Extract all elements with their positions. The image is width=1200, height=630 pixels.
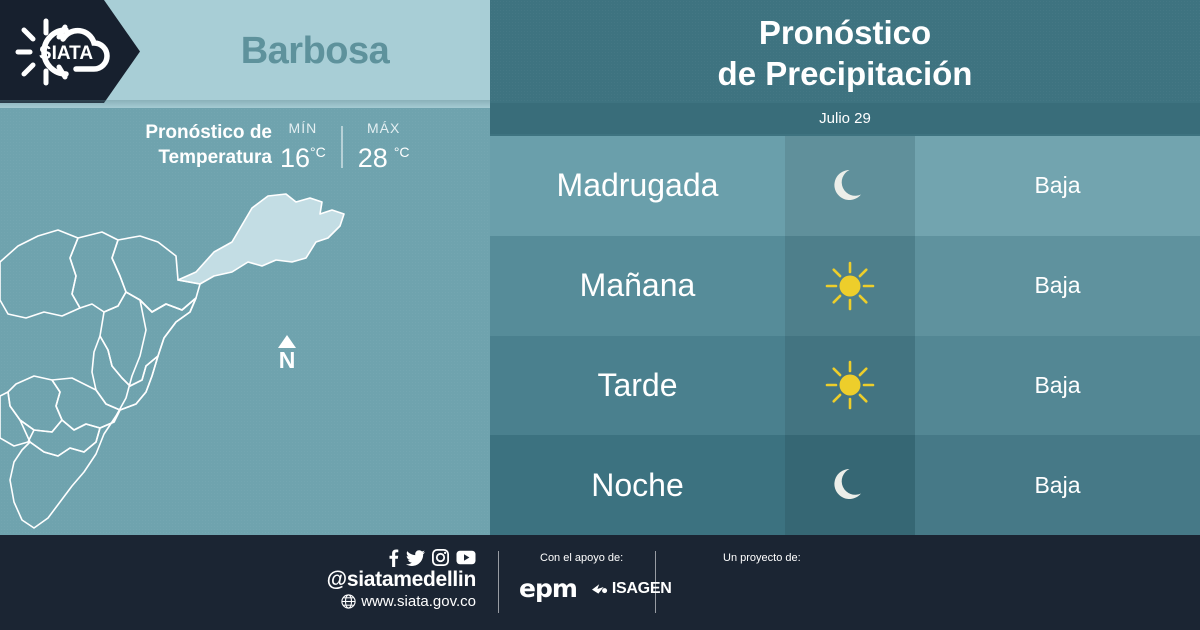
forecast-icon-cell	[785, 136, 915, 236]
map-region-caldas[interactable]	[10, 298, 196, 528]
table-row[interactable]: Noche Baja	[490, 435, 1200, 535]
forecast-table: Madrugada Baja Mañana	[490, 136, 1200, 535]
forecast-level-label: Baja	[1034, 272, 1080, 299]
min-value: 16	[280, 143, 310, 173]
max-value: 28	[358, 143, 388, 173]
forecast-level-label: Baja	[1034, 472, 1080, 499]
table-row[interactable]: Mañana	[490, 236, 1200, 336]
footer-divider-2	[655, 551, 656, 613]
temperature-divider	[341, 126, 343, 168]
social-block: @siatamedellin www.siata.gov.co	[316, 548, 476, 611]
forecast-period-cell: Noche	[490, 435, 785, 535]
forecast-level-cell: Baja	[915, 435, 1200, 535]
weather-infographic: SIATA Barbosa Pronóstico de Temperatura …	[0, 0, 1200, 630]
map-region-envigado[interactable]	[52, 378, 120, 430]
isagen-text: ISAGEN	[612, 580, 672, 598]
precipitation-title-line2: de Precipitación	[490, 53, 1200, 94]
temperature-block: Pronóstico de Temperatura MÍN 16°C MÁX 2…	[0, 120, 490, 182]
project-caption: Un proyecto de:	[723, 552, 801, 564]
forecast-period-label: Tarde	[597, 367, 677, 404]
isagen-logo[interactable]: ISAGEN	[591, 580, 672, 598]
max-label: MÁX	[367, 120, 400, 137]
sun-icon	[824, 359, 876, 411]
isagen-mark-icon	[591, 581, 609, 597]
min-value-wrap: 16°C	[280, 137, 326, 174]
map-region-sabaneta[interactable]	[20, 420, 100, 456]
forecast-date-strip: Julio 29	[490, 103, 1200, 134]
facebook-icon[interactable]	[388, 549, 399, 567]
aburra-valley-map[interactable]: N	[0, 180, 490, 535]
siata-logo[interactable]: SIATA	[0, 0, 140, 103]
website-label: www.siata.gov.co	[361, 592, 476, 611]
forecast-level-cell: Baja	[915, 236, 1200, 336]
forecast-level-cell: Baja	[915, 336, 1200, 436]
temperature-values: MÍN 16°C MÁX 28°C	[280, 120, 410, 174]
map-region-medellin-north[interactable]	[100, 292, 196, 386]
map-region-barbosa[interactable]	[178, 194, 344, 284]
precipitation-panel: Pronóstico de Precipitación Julio 29 Mad…	[490, 0, 1200, 535]
temperature-title-line2: Temperatura	[52, 145, 272, 170]
forecast-period-label: Noche	[591, 467, 684, 504]
globe-icon	[341, 594, 356, 609]
forecast-icon-cell	[785, 435, 915, 535]
temperature-panel: SIATA Barbosa Pronóstico de Temperatura …	[0, 0, 490, 535]
sun-icon	[824, 260, 876, 312]
max-temperature: MÁX 28°C	[358, 120, 410, 174]
forecast-level-label: Baja	[1034, 372, 1080, 399]
moon-icon	[828, 164, 872, 208]
precipitation-title-line1: Pronóstico	[490, 12, 1200, 53]
twitter-icon[interactable]	[406, 550, 425, 566]
footer-divider-1	[498, 551, 499, 613]
instagram-icon[interactable]	[432, 549, 449, 566]
support-caption: Con el apoyo de:	[540, 552, 623, 564]
map-region-girardota[interactable]	[112, 236, 200, 312]
forecast-period-label: Madrugada	[557, 167, 719, 204]
map-region-itagui[interactable]	[8, 376, 62, 432]
forecast-level-cell: Baja	[915, 136, 1200, 236]
header-shadow	[0, 100, 490, 109]
map-region-bello[interactable]	[0, 230, 80, 318]
left-header: SIATA Barbosa	[0, 0, 490, 108]
forecast-period-cell: Mañana	[490, 236, 785, 336]
social-website[interactable]: www.siata.gov.co	[316, 592, 476, 611]
forecast-date: Julio 29	[819, 110, 871, 127]
forecast-icon-cell	[785, 336, 915, 436]
table-row[interactable]: Madrugada Baja	[490, 136, 1200, 236]
epm-logo[interactable]: epm	[519, 574, 577, 603]
precipitation-title: Pronóstico de Precipitación	[490, 12, 1200, 94]
min-temperature: MÍN 16°C	[280, 120, 326, 174]
forecast-period-label: Mañana	[580, 267, 696, 304]
table-row[interactable]: Tarde	[490, 336, 1200, 436]
temperature-title-line1: Pronóstico de	[52, 120, 272, 145]
footer: @siatamedellin www.siata.gov.co Con el a…	[0, 535, 1200, 630]
social-icons	[316, 548, 476, 567]
sun-cloud-icon: SIATA	[14, 17, 118, 87]
moon-icon	[828, 463, 872, 507]
compass-north-label: N	[278, 349, 296, 372]
forecast-period-cell: Madrugada	[490, 136, 785, 236]
map-region-copacabana[interactable]	[70, 232, 126, 312]
forecast-level-label: Baja	[1034, 172, 1080, 199]
temperature-title: Pronóstico de Temperatura	[52, 120, 272, 170]
forecast-icon-cell	[785, 236, 915, 336]
min-unit: °C	[310, 144, 326, 160]
logo-text: SIATA	[39, 43, 93, 64]
max-value-wrap: 28°C	[358, 137, 410, 174]
support-logos: epm ISAGEN	[519, 574, 671, 603]
city-name: Barbosa	[140, 0, 490, 103]
forecast-period-cell: Tarde	[490, 336, 785, 436]
max-unit: °C	[394, 144, 410, 160]
min-label: MÍN	[289, 120, 318, 137]
compass-rose: N	[278, 335, 296, 372]
social-handle[interactable]: @siatamedellin	[316, 567, 476, 592]
youtube-icon[interactable]	[456, 550, 476, 565]
